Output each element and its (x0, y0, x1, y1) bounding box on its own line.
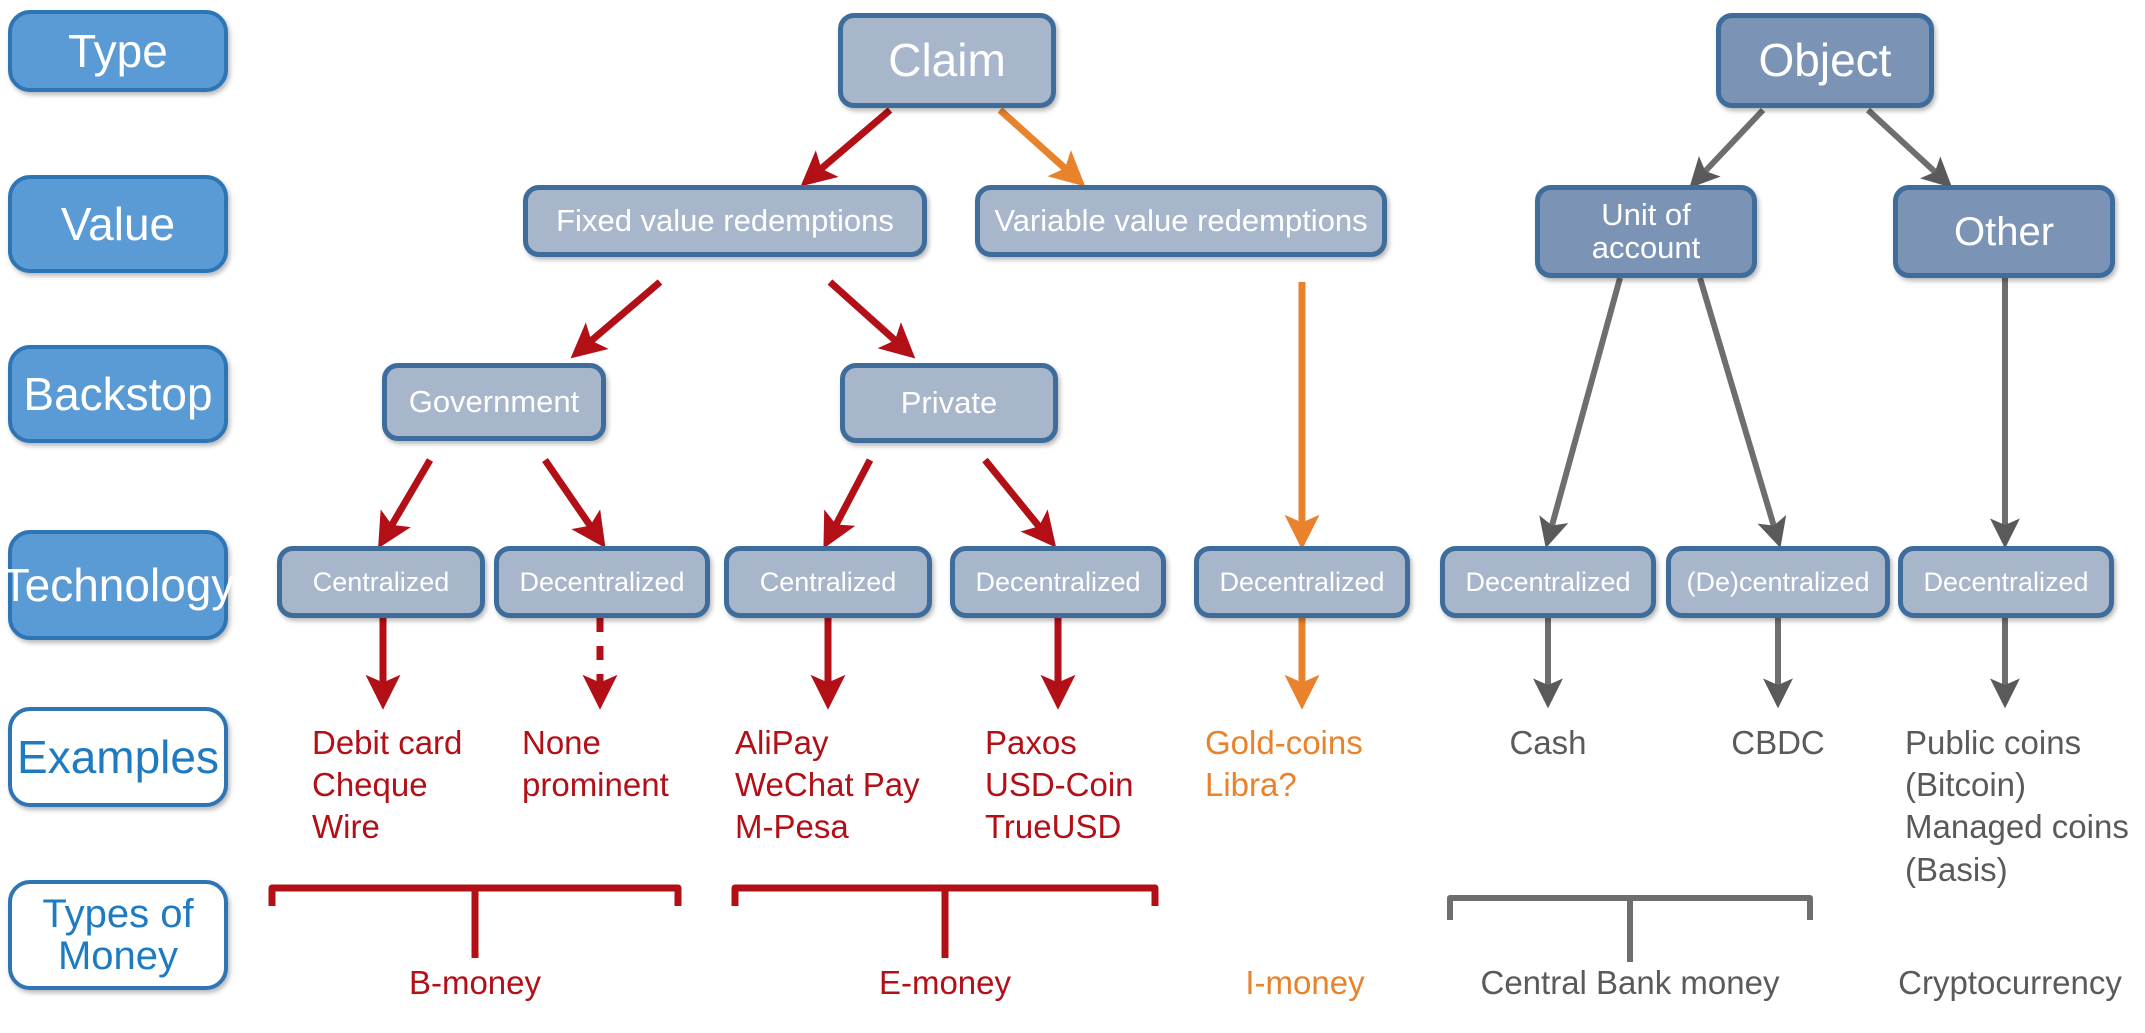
node-fixed-value-redemptions[interactable]: Fixed value redemptions (523, 185, 927, 257)
examples-paxos: Paxos USD-Coin TrueUSD (985, 722, 1225, 849)
edge-claim-fixed (808, 110, 890, 180)
edge-government-t1 (383, 460, 430, 540)
examples-public-coins: Public coins (Bitcoin) Managed coins (Ba… (1905, 722, 2145, 891)
edge-object-unit (1695, 110, 1763, 182)
node-other-label: Other (1954, 211, 2054, 253)
node-tech-centralized-2-label: Centralized (760, 568, 897, 596)
row-label-type-text: Type (68, 27, 168, 75)
node-tech-decentralized-2-label: Decentralized (975, 568, 1140, 596)
node-object-label: Object (1759, 36, 1892, 84)
node-government-label: Government (409, 386, 580, 419)
node-private-label: Private (901, 387, 997, 420)
examples-cbdc: CBDC (1678, 722, 1878, 764)
edge-unit-t6 (1548, 278, 1620, 540)
edge-unit-t7 (1700, 278, 1778, 540)
node-variable-value-redemptions[interactable]: Variable value redemptions (975, 185, 1387, 257)
node-claim[interactable]: Claim (838, 13, 1056, 108)
node-tech-centralized-1-label: Centralized (313, 568, 450, 596)
row-label-value-text: Value (61, 200, 175, 248)
money-type-cryptocurrency: Cryptocurrency (1880, 962, 2140, 1004)
row-label-examples: Examples (8, 707, 228, 807)
node-object[interactable]: Object (1716, 13, 1934, 108)
row-label-type: Type (8, 10, 228, 92)
edge-object-other (1868, 110, 1946, 182)
row-label-technology: Technology (8, 530, 228, 640)
row-label-value: Value (8, 175, 228, 273)
examples-cash: Cash (1448, 722, 1648, 764)
node-government[interactable]: Government (382, 363, 606, 441)
node-tech-decentralized-4-label: Decentralized (1465, 568, 1630, 596)
node-unit-of-account[interactable]: Unit of account (1535, 185, 1757, 278)
node-tech-decentralized-2[interactable]: Decentralized (950, 546, 1166, 618)
node-tech-decentralized-4[interactable]: Decentralized (1440, 546, 1656, 618)
money-type-e-money: E-money (825, 962, 1065, 1004)
node-tech-decentralized-1-label: Decentralized (519, 568, 684, 596)
node-private[interactable]: Private (840, 363, 1058, 443)
brace-b-money (272, 888, 678, 958)
row-label-types-of-money-text: Types of Money (42, 893, 193, 977)
connector-layer (0, 0, 2145, 1033)
node-tech-decentralized-1[interactable]: Decentralized (494, 546, 710, 618)
money-type-b-money: B-money (355, 962, 595, 1004)
node-tech-decentralized-3-label: Decentralized (1219, 568, 1384, 596)
examples-debit-card: Debit card Cheque Wire (312, 722, 532, 849)
row-label-types-of-money: Types of Money (8, 880, 228, 990)
node-tech-decentralized-5[interactable]: Decentralized (1898, 546, 2114, 618)
row-label-backstop: Backstop (8, 345, 228, 443)
examples-alipay: AliPay WeChat Pay M-Pesa (735, 722, 985, 849)
node-tech-decentralized-3[interactable]: Decentralized (1194, 546, 1410, 618)
row-label-backstop-text: Backstop (23, 370, 212, 418)
node-fixed-value-redemptions-label: Fixed value redemptions (556, 205, 894, 238)
node-tech-decentralized-5-label: Decentralized (1923, 568, 2088, 596)
edge-fixed-government (578, 282, 660, 352)
node-tech-de-centralized[interactable]: (De)centralized (1666, 546, 1890, 618)
node-tech-centralized-2[interactable]: Centralized (724, 546, 932, 618)
examples-gold-coins: Gold-coins Libra? (1205, 722, 1445, 806)
node-claim-label: Claim (888, 36, 1006, 84)
edge-private-t3 (828, 460, 870, 540)
money-type-i-money: I-money (1185, 962, 1425, 1004)
node-unit-of-account-label: Unit of account (1592, 199, 1701, 264)
diagram-canvas: Type Value Backstop Technology Examples … (0, 0, 2145, 1033)
money-type-central-bank-money: Central Bank money (1450, 962, 1810, 1004)
row-label-examples-text: Examples (17, 733, 219, 781)
edge-private-t4 (985, 460, 1050, 540)
brace-central-bank-money (1450, 898, 1810, 962)
node-other[interactable]: Other (1893, 185, 2115, 278)
node-variable-value-redemptions-label: Variable value redemptions (994, 205, 1367, 238)
brace-e-money (735, 888, 1155, 958)
node-tech-de-centralized-label: (De)centralized (1686, 568, 1869, 596)
edge-claim-variable (1000, 110, 1078, 180)
edge-government-t2 (545, 460, 600, 540)
node-tech-centralized-1[interactable]: Centralized (277, 546, 485, 618)
edge-fixed-private (830, 282, 908, 352)
row-label-technology-text: Technology (2, 561, 235, 609)
examples-none-prominent: None prominent (522, 722, 752, 806)
